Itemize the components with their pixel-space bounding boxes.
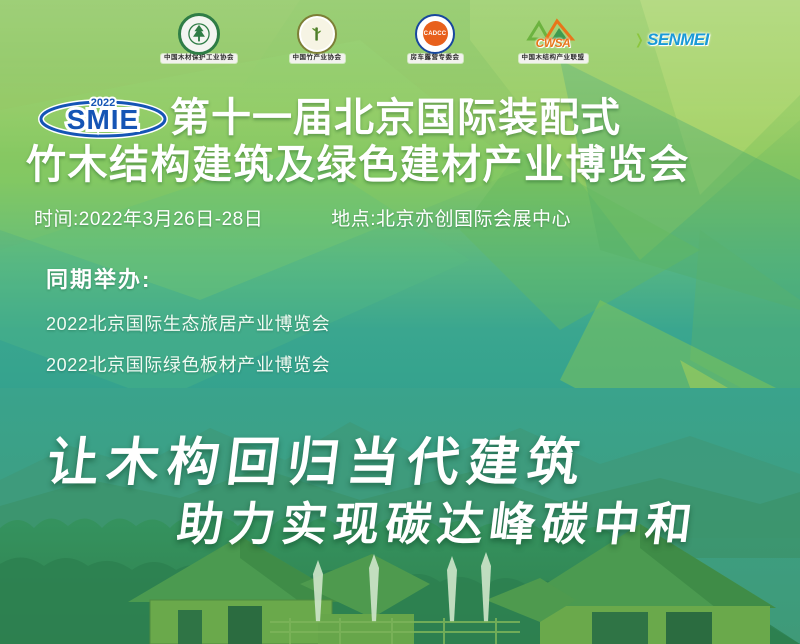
partner-name-cn: 中国木材保护工业协会 xyxy=(161,54,237,64)
smie-acronym: SMIE xyxy=(67,104,139,135)
partner-logo-cwsa[interactable]: CWSA 中国木结构产业联盟 xyxy=(507,8,599,70)
concurrent-heading: 同期举办: xyxy=(46,262,566,294)
cadcc-abbr: CADCC xyxy=(423,21,448,46)
expo-banner: 中国木材保护工业协会 中国竹产业协会 CADCC 房车露营专委 xyxy=(0,0,800,644)
event-meta: 时间:2022年3月26日-28日 地点:北京亦创国际会展中心 xyxy=(34,204,571,231)
partner-logo-china-wood-protection[interactable]: 中国木材保护工业协会 xyxy=(153,8,245,70)
partner-name-cn: 中国竹产业协会 xyxy=(290,54,345,64)
event-date: 时间:2022年3月26日-28日 xyxy=(34,204,263,231)
house-roof-icon: CWSA xyxy=(526,15,580,53)
headline-line-1: 第十一届北京国际装配式 xyxy=(170,96,790,140)
partner-logo-bamboo-association[interactable]: 中国竹产业协会 xyxy=(271,8,363,70)
slogan-line-2: 助力实现碳达峰碳中和 xyxy=(174,488,702,554)
cadcc-roundel-icon: CADCC xyxy=(415,15,455,53)
senmei-leaf-wordmark-icon: ❭ SENMEI xyxy=(633,20,708,58)
concurrent-item: 2022北京国际绿色板材产业博览会 xyxy=(46,351,566,377)
partner-logo-cadcc[interactable]: CADCC 房车露营专委会 xyxy=(389,8,481,70)
leaf-icon: ❭ xyxy=(633,32,645,46)
concurrent-item: 2022北京国际生态旅居产业博览会 xyxy=(46,310,566,336)
event-venue: 地点:北京亦创国际会展中心 xyxy=(331,204,571,231)
smie-logo: 2022 2022 SMIE SMIE xyxy=(36,92,171,140)
partner-logo-strip: 中国木材保护工业协会 中国竹产业协会 CADCC 房车露营专委 xyxy=(0,0,800,78)
headline-line-2: 竹木结构建筑及绿色建材产业博览会 xyxy=(26,142,786,188)
bamboo-seal-icon xyxy=(297,15,337,53)
partner-logo-senmei[interactable]: ❭ SENMEI xyxy=(625,8,717,70)
partner-name-cn: 房车露营专委会 xyxy=(408,54,463,64)
senmei-wordmark: SENMEI xyxy=(647,31,709,48)
cwsa-abbr: CWSA xyxy=(526,36,580,50)
pine-tree-roundel-icon xyxy=(178,15,220,53)
partner-name-cn: 中国木结构产业联盟 xyxy=(519,54,588,64)
slogan-line-1: 让木构回归当代建筑 xyxy=(43,420,592,495)
